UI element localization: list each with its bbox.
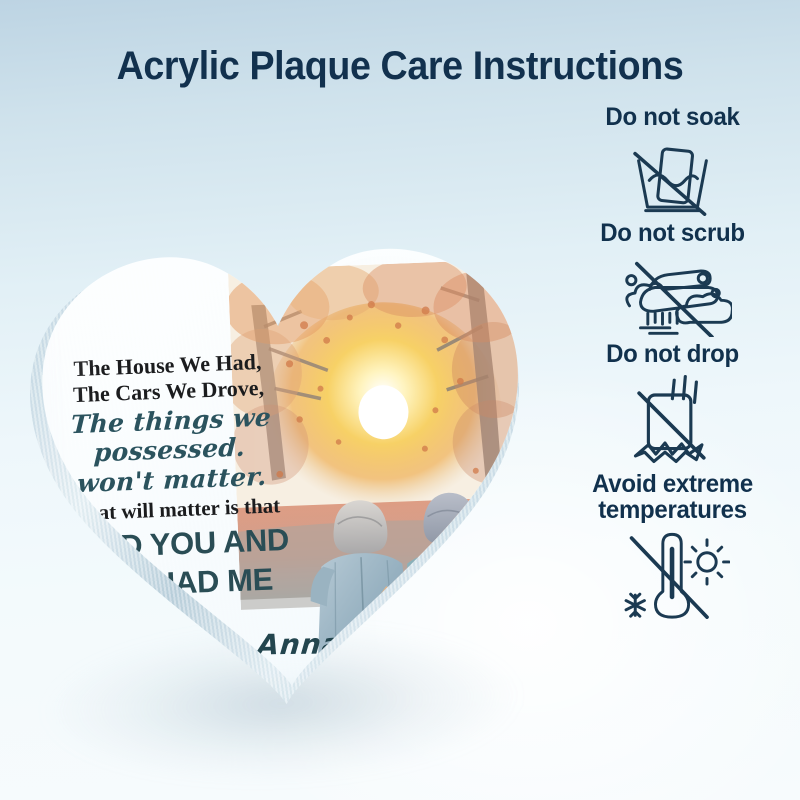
care-label-avoid-extreme-temperatures-line1: Avoid extreme xyxy=(550,471,795,498)
quote-highlight: LIVES TOGETHER, xyxy=(47,191,517,246)
plaque-left-quote: The House We Had, The Cars We Drove, The… xyxy=(33,347,310,606)
care-label-no-scrub: Do not scrub xyxy=(550,220,795,247)
care-label-avoid-extreme-temperatures-line2: temperatures xyxy=(550,497,795,524)
quote-big-line-1: I HAD YOU AND xyxy=(40,522,309,566)
care-item-no-scrub: Do not scrub xyxy=(545,220,800,338)
care-label-no-soak: Do not soak xyxy=(550,104,795,131)
care-item-no-soak: Do not soak xyxy=(545,104,800,216)
quote-line-1: When We Get xyxy=(49,131,510,178)
plaque-front-face: When We Get To The End Of Our LIVES TOGE… xyxy=(8,92,554,706)
quote-line-2: To The End Of Our xyxy=(50,160,511,207)
care-item-avoid-extreme-temperatures: Avoid extreme temperatures xyxy=(545,471,800,619)
no-scrub-icon xyxy=(613,249,732,337)
product-care-infographic: Acrylic Plaque Care Instructions xyxy=(0,0,800,800)
no-soak-icon xyxy=(619,134,726,216)
plaque-top-quote: When We Get To The End Of Our LIVES TOGE… xyxy=(49,131,512,246)
acrylic-heart-plaque: When We Get To The End Of Our LIVES TOGE… xyxy=(0,97,578,758)
quote-script-line-1: The things we possessed. xyxy=(35,402,306,470)
page-title: Acrylic Plaque Care Instructions xyxy=(24,44,776,89)
care-instructions-list: Do not soak Do not scrub xyxy=(545,104,800,623)
care-item-no-drop: Do not drop xyxy=(545,341,800,467)
care-label-no-drop: Do not drop xyxy=(550,341,795,368)
no-drop-icon xyxy=(617,371,728,467)
no-extreme-temperature-icon xyxy=(615,527,729,619)
